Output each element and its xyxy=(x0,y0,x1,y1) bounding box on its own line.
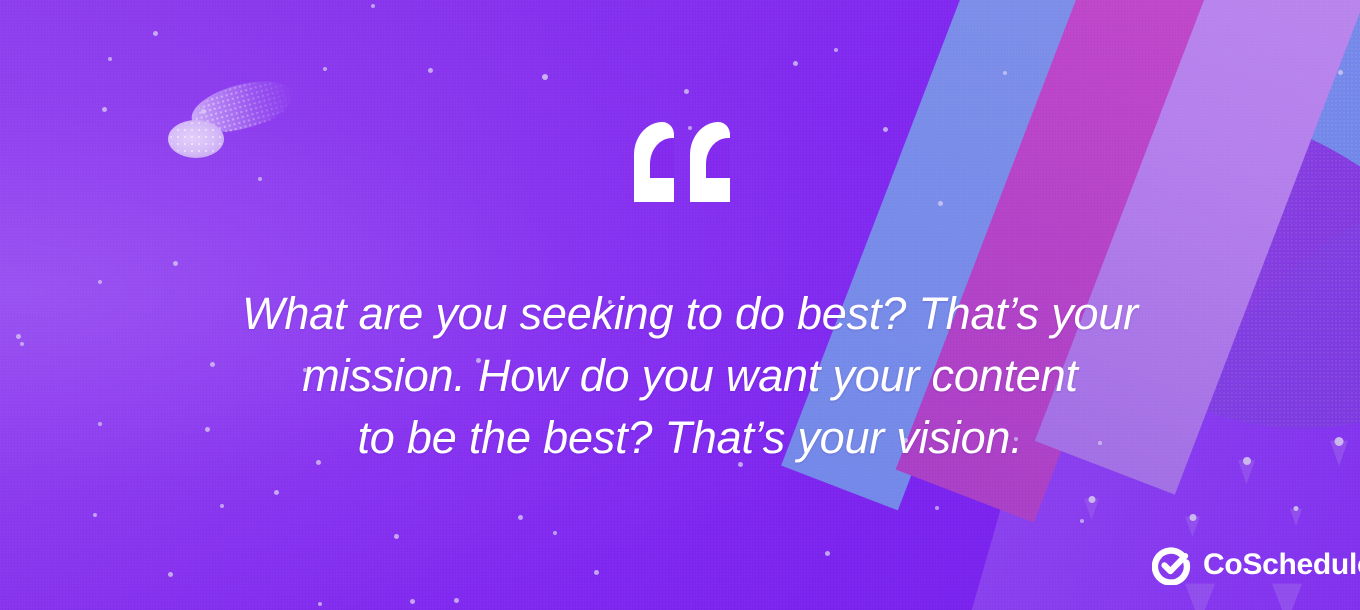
pin-shape xyxy=(1238,455,1255,484)
star-dot xyxy=(454,598,459,603)
star-dot xyxy=(153,31,158,36)
quote-text: What are you seeking to do best? That’s … xyxy=(190,283,1190,469)
star-dot xyxy=(93,513,97,517)
star-dot xyxy=(102,107,107,112)
star-dot xyxy=(173,261,178,266)
pin-shape xyxy=(1290,505,1302,526)
pin-dot xyxy=(1243,457,1251,465)
star-dot xyxy=(834,48,838,52)
star-dot xyxy=(684,89,689,94)
quotation-mark-icon xyxy=(634,122,730,206)
quote-line-2: mission. How do you want your content xyxy=(190,345,1190,407)
pin-shape xyxy=(1185,512,1200,537)
star-dot xyxy=(318,602,322,606)
star-dot xyxy=(938,201,943,206)
pin-dot xyxy=(1088,496,1095,503)
pin-dot xyxy=(1335,437,1344,446)
star-dot xyxy=(793,61,798,66)
star-dot xyxy=(394,534,399,539)
star-dot xyxy=(542,74,548,80)
star-dot xyxy=(883,127,888,132)
star-dot xyxy=(98,422,102,426)
quote-graphic-canvas: What are you seeking to do best? That’s … xyxy=(0,0,1360,610)
star-dot xyxy=(594,570,599,575)
star-dot xyxy=(428,68,433,73)
quote-line-3: to be the best? That’s your vision. xyxy=(190,407,1190,469)
star-dot xyxy=(1338,70,1343,75)
star-dot xyxy=(98,280,102,284)
star-dot xyxy=(323,67,327,71)
quotation-mark-right-glyph xyxy=(690,122,730,202)
coschedule-logo: CoSchedule xyxy=(1152,545,1360,585)
star-dot xyxy=(1003,71,1007,75)
star-dot xyxy=(220,504,224,508)
quote-line-1: What are you seeking to do best? That’s … xyxy=(190,283,1190,345)
pin-shape xyxy=(1084,494,1099,520)
logo-wordmark: CoSchedule xyxy=(1203,550,1360,580)
star-dot xyxy=(410,599,415,604)
star-dot xyxy=(258,177,262,181)
star-dot xyxy=(825,551,830,556)
star-dot xyxy=(168,572,173,577)
pin-dot xyxy=(1294,506,1299,511)
star-dot xyxy=(518,515,523,520)
pin-dot xyxy=(1189,514,1196,521)
quotation-mark-left-glyph xyxy=(634,122,674,202)
star-dot xyxy=(274,490,279,495)
check-circle-icon xyxy=(1152,545,1192,585)
star-dot xyxy=(16,334,21,339)
star-dot xyxy=(20,342,24,346)
comet-head-dither xyxy=(170,122,222,156)
star-dot xyxy=(201,109,206,114)
star-dot xyxy=(553,531,557,535)
star-dot xyxy=(371,4,375,8)
star-dot xyxy=(108,57,112,61)
comet-shape xyxy=(166,96,294,158)
pin-shape xyxy=(1330,435,1348,466)
star-dot xyxy=(935,506,939,510)
